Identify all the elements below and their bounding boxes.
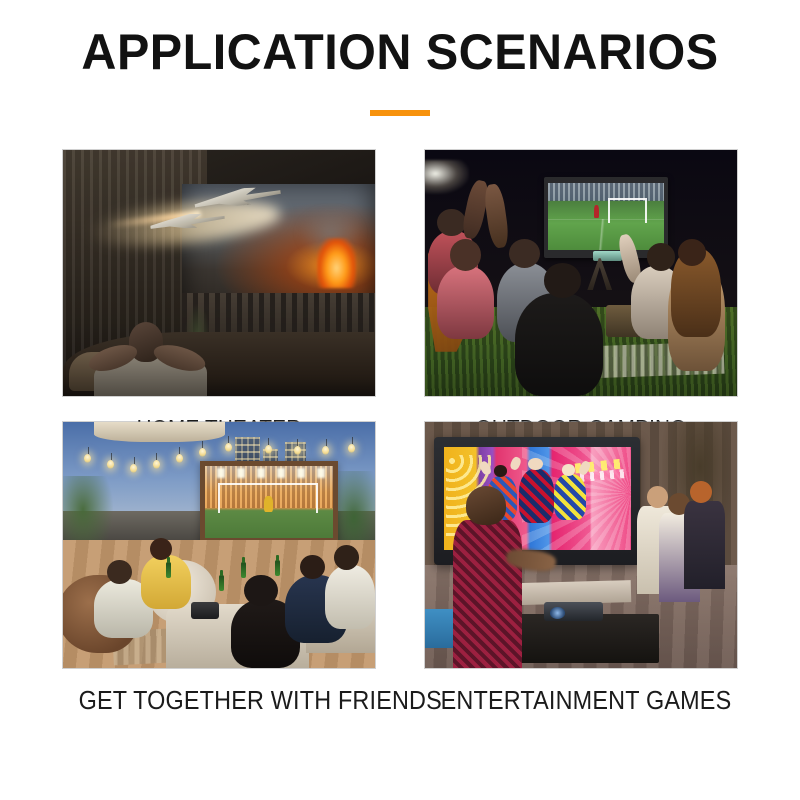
- beer-bottle-icon: [166, 562, 171, 578]
- scenario-row-bottom: GET TOGETHER WITH FRIENDS: [63, 422, 737, 694]
- scenario-label-entertainment-games: ENTERTAINMENT GAMES: [441, 687, 722, 713]
- projector-unit: [191, 602, 219, 619]
- page-title: APPLICATION SCENARIOS: [12, 26, 788, 78]
- light-bulb-icon: [322, 446, 329, 455]
- goal-net: [608, 198, 647, 223]
- spectator-body: [437, 266, 493, 340]
- scenario-card-get-together[interactable]: GET TOGETHER WITH FRIENDS: [63, 422, 375, 694]
- beer-bottle-icon: [241, 562, 246, 578]
- scenario-card-entertainment-games[interactable]: ENTERTAINMENT GAMES: [425, 422, 737, 694]
- scenario-label-get-together: GET TOGETHER WITH FRIENDS: [79, 687, 360, 713]
- light-bulb-icon: [176, 454, 183, 463]
- raised-arm: [483, 183, 510, 249]
- projector-unit: [593, 251, 621, 261]
- light-bulb-icon: [348, 444, 355, 453]
- spectator-body: [515, 293, 602, 396]
- stadium-projection: [205, 466, 333, 537]
- foreground-girl-head: [466, 486, 507, 525]
- stadium-floodlights: [205, 468, 333, 478]
- scenario-card-home-theater[interactable]: HOME THEATER: [63, 150, 375, 422]
- game-dancer-head: [562, 464, 575, 475]
- spectator-head: [544, 263, 581, 297]
- tripod-stand: [587, 258, 612, 290]
- spectator-head: [450, 239, 481, 271]
- scenario-grid: HOME THEATER: [63, 150, 737, 694]
- game-dancer-head: [494, 465, 507, 476]
- light-bulb-icon: [225, 443, 232, 452]
- light-flare: [425, 160, 469, 194]
- home-theater-photo[interactable]: [63, 150, 375, 396]
- spectator-head: [647, 243, 675, 270]
- beer-bottle-icon: [219, 575, 224, 591]
- foreground-girl-dress: [453, 520, 522, 668]
- light-bulb-icon: [153, 460, 160, 469]
- child-head: [690, 481, 712, 503]
- get-together-photo[interactable]: [63, 422, 375, 668]
- light-bulb-icon: [294, 446, 301, 455]
- game-dancer-arm: [509, 456, 523, 472]
- scenario-row-top: HOME THEATER: [63, 150, 737, 422]
- light-bulb-icon: [199, 448, 206, 457]
- projector-table: [509, 614, 659, 663]
- light-bulb-icon: [130, 464, 137, 473]
- spectator-head: [437, 209, 465, 236]
- goalkeeper: [264, 496, 273, 512]
- title-underline-accent: [370, 110, 430, 116]
- scenario-card-outdoor-camping[interactable]: OUTDOOR CAMPING: [425, 150, 737, 422]
- light-bulb-icon: [265, 445, 272, 454]
- spectator-head: [678, 239, 706, 266]
- friend-head: [334, 545, 359, 570]
- light-bulb-icon: [107, 460, 114, 469]
- soccer-match-projection: [548, 183, 663, 249]
- projector-lens: [550, 607, 566, 619]
- game-dancer-body: [554, 474, 586, 519]
- light-bulb-icon: [84, 454, 91, 463]
- beer-bottle-icon: [275, 560, 280, 576]
- pitch-lines: [548, 219, 663, 250]
- entertainment-games-photo[interactable]: [425, 422, 737, 668]
- soccer-player: [594, 205, 599, 218]
- explosion-fire: [317, 238, 356, 288]
- child-body: [684, 501, 725, 590]
- application-scenarios-page: APPLICATION SCENARIOS: [0, 0, 800, 800]
- friend-head: [107, 560, 132, 585]
- outdoor-camping-photo[interactable]: [425, 150, 737, 396]
- friend-body: [325, 565, 375, 629]
- game-dancer-body: [519, 469, 555, 523]
- ruined-city-skyline: [182, 293, 375, 332]
